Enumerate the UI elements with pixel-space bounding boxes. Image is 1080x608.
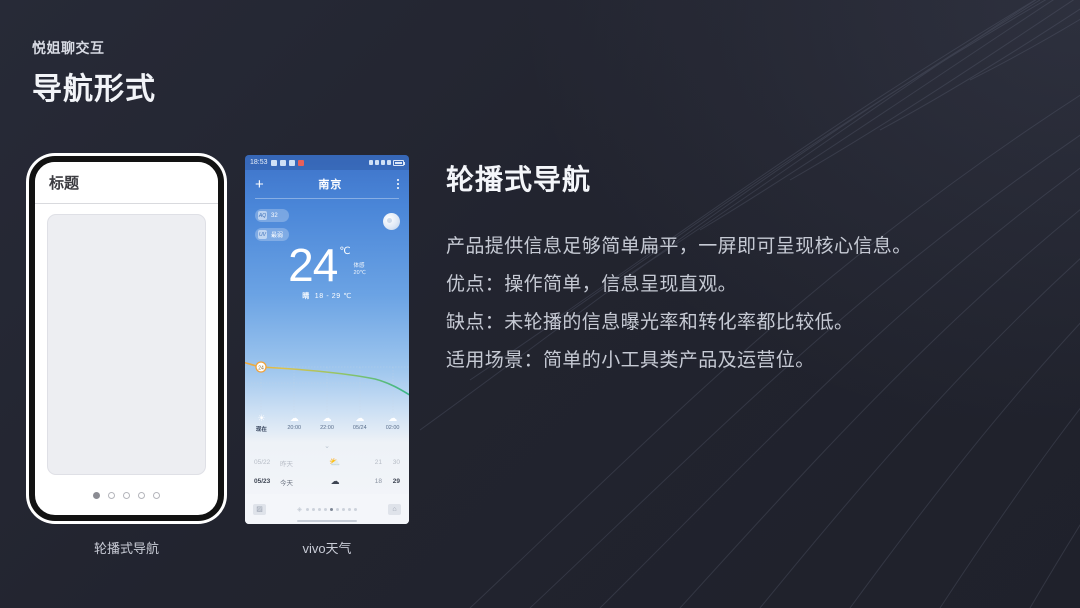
feels-like-value: 20℃ bbox=[354, 270, 366, 277]
home-icon[interactable]: ⌂ bbox=[388, 504, 401, 515]
uv-index-chip[interactable]: UV 最弱 bbox=[255, 228, 289, 241]
bluetooth-icon bbox=[375, 160, 379, 165]
nav-divider bbox=[255, 198, 399, 199]
status-time: 18:53 bbox=[250, 159, 268, 166]
daily-low: 21 bbox=[364, 459, 382, 466]
cloud-icon: ☁ bbox=[278, 413, 311, 424]
carousel-dot[interactable] bbox=[93, 492, 100, 499]
vivo-info-chips: AQ 32 UV 最弱 bbox=[255, 209, 289, 241]
add-city-button[interactable]: + bbox=[255, 177, 264, 192]
app-badge-icon bbox=[298, 160, 304, 166]
wireframe-caption: 轮播式导航 bbox=[29, 538, 224, 557]
section-body: 产品提供信息足够简单扁平，一屏即可呈现核心信息。 优点：操作简单，信息呈现直观。… bbox=[446, 228, 1006, 380]
page-dot[interactable] bbox=[330, 508, 333, 511]
carousel-dot[interactable] bbox=[108, 492, 115, 499]
curve-marker-label: 24 bbox=[258, 365, 264, 371]
location-pin-icon: ◈ bbox=[297, 506, 302, 513]
wireframe-carousel-dots[interactable] bbox=[35, 475, 218, 515]
air-quality-value: 32 bbox=[271, 213, 278, 219]
carousel-dot[interactable] bbox=[123, 492, 130, 499]
body-paragraph: 产品提供信息足够简单扁平，一屏即可呈现核心信息。 bbox=[446, 228, 1006, 266]
page-dot[interactable] bbox=[354, 508, 357, 511]
daily-date: 05/22 bbox=[254, 459, 280, 466]
partly-cloudy-icon: ⛅ bbox=[306, 457, 364, 468]
daily-low: 18 bbox=[364, 478, 382, 485]
page-dot[interactable] bbox=[312, 508, 315, 511]
body-paragraph: 适用场景：简单的小工具类产品及运营位。 bbox=[446, 342, 1006, 380]
hourly-time: 05/24 bbox=[343, 425, 376, 431]
hourly-time: 20:00 bbox=[278, 425, 311, 431]
chevron-down-icon[interactable]: ⌄ bbox=[254, 443, 400, 450]
page-indicator[interactable]: ◈ bbox=[297, 506, 357, 513]
home-indicator-bar bbox=[297, 520, 357, 522]
sun-icon: ☀ bbox=[245, 413, 278, 424]
wireframe-screen-title: 标题 bbox=[49, 172, 79, 193]
temperature-unit: ℃ bbox=[339, 246, 350, 257]
app-badge-icon bbox=[289, 160, 295, 166]
trend-chart-icon[interactable]: ▨ bbox=[253, 504, 266, 515]
daily-date: 05/23 bbox=[254, 478, 280, 485]
daily-high: 29 bbox=[382, 478, 400, 485]
vivo-status-bar: 18:53 bbox=[245, 155, 409, 170]
alarm-icon bbox=[369, 160, 373, 165]
carousel-dot[interactable] bbox=[153, 492, 160, 499]
wireframe-phone-mockup: 标题 bbox=[29, 156, 224, 521]
cloud-icon: ☁ bbox=[376, 413, 409, 424]
page-title: 导航形式 bbox=[32, 64, 156, 108]
more-menu-icon[interactable] bbox=[397, 179, 399, 189]
feels-like-block: 体感 20℃ bbox=[354, 263, 366, 277]
table-row[interactable]: 05/22 昨天 ⛅ 21 30 bbox=[254, 453, 400, 472]
uv-index-icon: UV bbox=[258, 230, 267, 239]
daily-name: 昨天 bbox=[280, 458, 306, 468]
cloud-icon: ☁ bbox=[343, 413, 376, 424]
hourly-time: 22:00 bbox=[311, 425, 344, 431]
page-dot[interactable] bbox=[318, 508, 321, 511]
signal-icon bbox=[381, 160, 385, 165]
hourly-time: 现在 bbox=[245, 425, 278, 433]
today-range: 晴18 - 29 ℃ bbox=[245, 291, 409, 301]
page-dot[interactable] bbox=[342, 508, 345, 511]
app-badge-icon bbox=[280, 160, 286, 166]
hourly-temperature-chart: 24 ☀ 现在 ☁ 20:00 ☁ 22:00 ☁ 05/24 bbox=[245, 353, 409, 433]
slide-kicker: 悦姐聊交互 bbox=[32, 38, 105, 58]
feels-like-label: 体感 bbox=[354, 263, 366, 270]
daily-name: 今天 bbox=[280, 477, 306, 487]
vivo-nav-bar: + 南京 bbox=[245, 170, 409, 198]
wireframe-topbar: 标题 bbox=[35, 162, 218, 204]
range-text: 18 - 29 ℃ bbox=[315, 293, 352, 300]
condition-text: 晴 bbox=[302, 293, 310, 300]
table-row[interactable]: 05/23 今天 ☁ 18 29 bbox=[254, 472, 400, 491]
page-dot[interactable] bbox=[336, 508, 339, 511]
cloud-icon: ☁ bbox=[306, 476, 364, 487]
carousel-dot[interactable] bbox=[138, 492, 145, 499]
page-dot[interactable] bbox=[306, 508, 309, 511]
body-paragraph: 缺点：未轮播的信息曝光率和转化率都比较低。 bbox=[446, 304, 1006, 342]
cloud-icon: ☁ bbox=[311, 413, 344, 424]
page-dot[interactable] bbox=[348, 508, 351, 511]
hourly-item: ☁ 02:00 bbox=[376, 413, 409, 433]
hourly-item: ☁ 20:00 bbox=[278, 413, 311, 433]
hourly-item: ☁ 22:00 bbox=[311, 413, 344, 433]
wireframe-body bbox=[35, 204, 218, 475]
current-weather-block: 24 ℃ 体感 20℃ 晴18 - 29 ℃ bbox=[245, 243, 409, 301]
vivo-weather-mockup: 18:53 + 南京 AQ 32 bbox=[245, 155, 409, 524]
hourly-item: ☀ 现在 bbox=[245, 413, 278, 433]
air-quality-icon: AQ bbox=[258, 211, 267, 220]
section-title: 轮播式导航 bbox=[446, 158, 591, 198]
hourly-time: 02:00 bbox=[376, 425, 409, 431]
current-temperature: 24 bbox=[288, 243, 337, 287]
battery-icon bbox=[393, 160, 404, 166]
app-badge-icon bbox=[271, 160, 277, 166]
body-paragraph: 优点：操作简单，信息呈现直观。 bbox=[446, 266, 1006, 304]
city-name: 南京 bbox=[318, 176, 342, 192]
air-quality-chip[interactable]: AQ 32 bbox=[255, 209, 289, 222]
slide-canvas: 悦姐聊交互 导航形式 标题 轮播式导航 18:53 bbox=[0, 0, 1080, 608]
wireframe-carousel-card[interactable] bbox=[47, 214, 206, 475]
uv-index-value: 最弱 bbox=[271, 230, 283, 239]
hourly-item: ☁ 05/24 bbox=[343, 413, 376, 433]
vivo-caption: vivo天气 bbox=[245, 538, 409, 557]
page-dot[interactable] bbox=[324, 508, 327, 511]
weather-condition-icon bbox=[383, 213, 400, 230]
hourly-forecast-list: ☀ 现在 ☁ 20:00 ☁ 22:00 ☁ 05/24 ☁ 02:00 bbox=[245, 413, 409, 433]
wifi-icon bbox=[387, 160, 391, 165]
daily-high: 30 bbox=[382, 459, 400, 466]
